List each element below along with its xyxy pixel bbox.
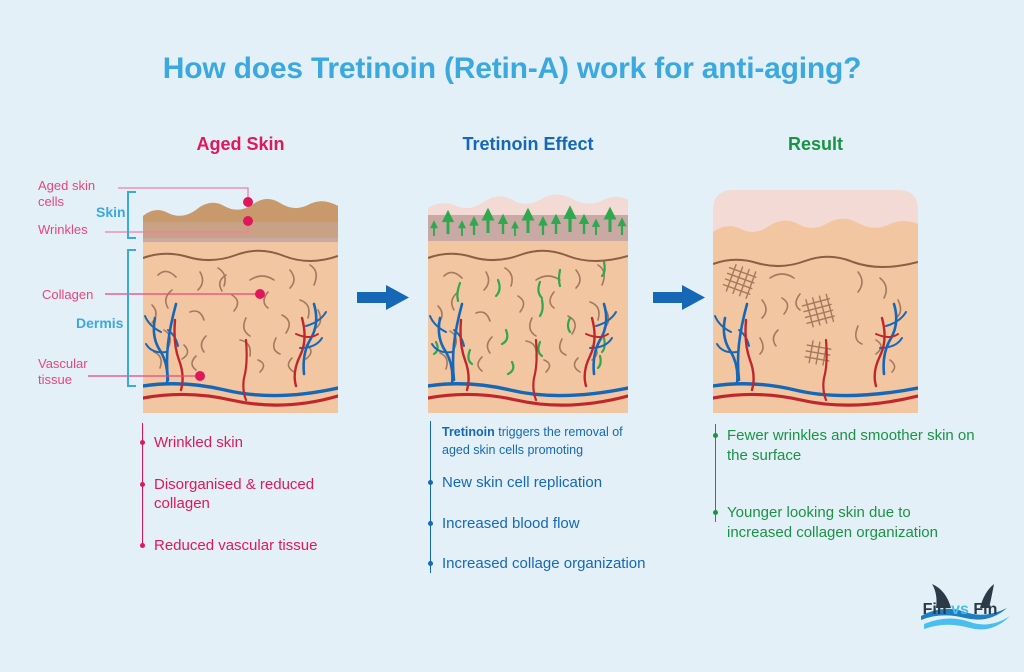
bullet-list-result: Fewer wrinkles and smoother skin on the …	[713, 426, 978, 542]
annotation-line-1: Vascular	[38, 356, 108, 372]
bracket-skin	[128, 192, 136, 238]
bullet-dot	[140, 482, 145, 487]
infographic-canvas: How does Tretinoin (Retin-A) work for an…	[0, 0, 1024, 672]
list-item-label: Increased collage organization	[442, 555, 645, 572]
list-intro: Tretinoin triggers the removal of aged s…	[428, 423, 646, 459]
list-item: Disorganised & reduced collagen	[140, 475, 370, 514]
list-item: Younger looking skin due to increased co…	[713, 503, 978, 542]
list-intro-text: Tretinoin triggers the removal of aged s…	[442, 425, 623, 457]
bracket-label-dermis: Dermis	[76, 315, 123, 331]
bullet-dot	[713, 433, 718, 438]
bracket-dermis	[128, 250, 136, 386]
logo-vs: vs	[951, 601, 969, 618]
dot-collagen	[255, 289, 265, 299]
list-item-label: Wrinkled skin	[154, 434, 243, 451]
bullet-dot	[428, 480, 433, 485]
logo-word-2: Fin	[973, 601, 997, 618]
arrow-1	[357, 285, 409, 310]
annotation-line-1: Aged skin	[38, 178, 116, 194]
bullet-dot	[140, 543, 145, 548]
logo-wordmark: Fin vs Fin	[910, 601, 1010, 619]
list-item-label: Disorganised & reduced collagen	[154, 476, 314, 513]
dot-aged-skin-cells	[243, 197, 253, 207]
bullet-dot	[713, 510, 718, 515]
bullet-dot	[140, 440, 145, 445]
bullet-dot	[428, 561, 433, 566]
bullet-list-tretinoin-effect: Tretinoin triggers the removal of aged s…	[428, 423, 646, 574]
annotation-line-2: tissue	[38, 372, 108, 388]
bracket-label-skin: Skin	[96, 204, 126, 220]
list-item-label: Increased blood flow	[442, 515, 580, 532]
list-item: Wrinkled skin	[140, 433, 370, 453]
panel-aged-skin	[143, 190, 338, 413]
bullet-list-aged-skin: Wrinkled skin Disorganised & reduced col…	[140, 433, 370, 555]
list-item: Reduced vascular tissue	[140, 536, 370, 556]
panel-tretinoin-effect	[428, 190, 628, 413]
fin-vs-fin-logo[interactable]: Fin vs Fin	[910, 600, 1010, 619]
arrow-2	[653, 285, 705, 310]
bullet-dot	[428, 521, 433, 526]
list-item: Fewer wrinkles and smoother skin on the …	[713, 426, 978, 465]
layer-brackets	[128, 192, 136, 386]
annotation-label-wrinkles: Wrinkles	[38, 222, 88, 238]
annotation-label-vascular-tissue: Vascular tissue	[38, 356, 108, 389]
list-item: Increased collage organization	[428, 554, 646, 574]
panel-result	[713, 185, 918, 413]
list-item-label: New skin cell replication	[442, 474, 602, 491]
logo-word-1: Fin	[923, 601, 947, 618]
annotation-label-collagen: Collagen	[42, 287, 93, 303]
list-item: Increased blood flow	[428, 514, 646, 534]
dot-vascular-tissue	[195, 371, 205, 381]
list-item-label: Younger looking skin due to increased co…	[727, 504, 938, 541]
dot-wrinkles	[243, 216, 253, 226]
list-item-label: Reduced vascular tissue	[154, 537, 317, 554]
list-intro-bold: Tretinoin	[442, 425, 495, 439]
list-item-label: Fewer wrinkles and smoother skin on the …	[727, 427, 975, 464]
list-item: New skin cell replication	[428, 473, 646, 493]
